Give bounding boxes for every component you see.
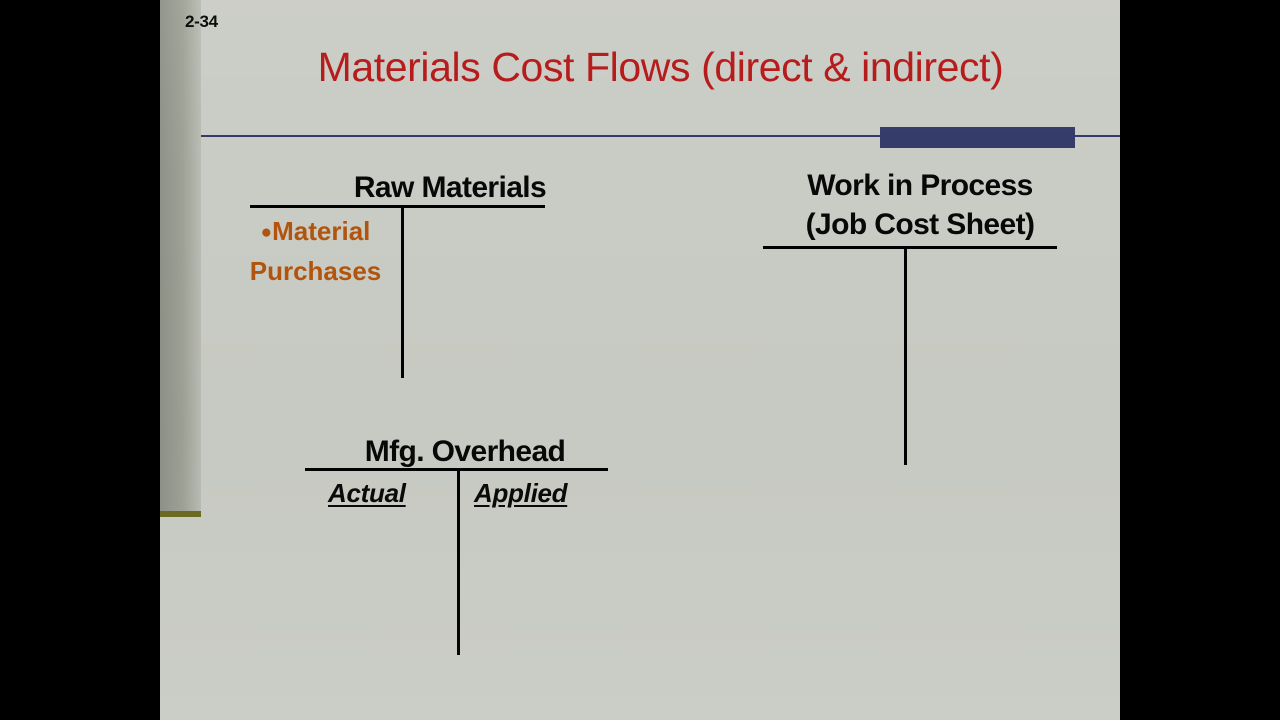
t-account-mfg-overhead-title: Mfg. Overhead xyxy=(305,432,625,471)
presentation-slide: 2-34 Materials Cost Flows (direct & indi… xyxy=(160,0,1120,720)
t-account-mfg-overhead-vline xyxy=(457,470,460,655)
t-account-work-in-process-title: Work in Process (Job Cost Sheet) xyxy=(760,166,1080,244)
screen: 2-34 Materials Cost Flows (direct & indi… xyxy=(0,0,1280,720)
title-divider-accent-block xyxy=(880,127,1075,148)
t-account-mfg-overhead-debit-label: Actual xyxy=(328,478,406,509)
bullet-icon: ● xyxy=(261,222,272,243)
t-account-work-in-process-vline xyxy=(904,249,907,465)
t-account-mfg-overhead-credit-label: Applied xyxy=(474,478,567,509)
t-account-work-in-process-hline xyxy=(763,246,1057,249)
t-account-raw-materials-debit-entry: ●Material Purchases xyxy=(228,212,403,291)
t-account-work-in-process-title-line2: (Job Cost Sheet) xyxy=(760,205,1080,244)
slide-title: Materials Cost Flows (direct & indirect) xyxy=(201,44,1120,91)
slide-left-band-accent-line xyxy=(160,511,201,517)
slide-left-decorative-band xyxy=(160,0,201,515)
t-account-work-in-process-title-line1: Work in Process xyxy=(760,166,1080,205)
t-account-raw-materials-title: Raw Materials xyxy=(250,168,650,207)
slide-number: 2-34 xyxy=(185,12,218,32)
t-account-raw-materials-hline xyxy=(250,205,545,208)
